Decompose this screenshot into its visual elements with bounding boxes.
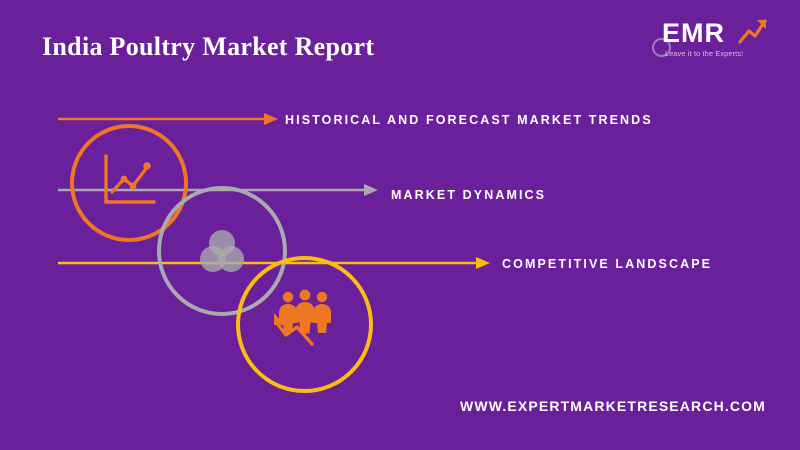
- emr-logo: EMR Leave it to the Experts!: [652, 16, 772, 72]
- page-title: India Poultry Market Report: [42, 32, 374, 62]
- logo-tagline: Leave it to the Experts!: [665, 49, 743, 58]
- slide-canvas: India Poultry Market Report EMR Leave it…: [0, 0, 800, 450]
- line-chart-icon: [100, 152, 158, 210]
- logo-wordmark: EMR: [662, 18, 725, 49]
- venn-diagram-icon: [196, 226, 248, 278]
- row-label-landscape: COMPETITIVE LANDSCAPE: [502, 257, 712, 271]
- arrow-right-icon-trends: [58, 112, 288, 126]
- people-growth-icon: [272, 288, 338, 350]
- footer-url: WWW.EXPERTMARKETRESEARCH.COM: [460, 398, 766, 414]
- row-label-dynamics: MARKET DYNAMICS: [391, 188, 546, 202]
- growth-arrow-icon: [738, 16, 768, 46]
- row-label-trends: HISTORICAL AND FORECAST MARKET TRENDS: [285, 113, 653, 127]
